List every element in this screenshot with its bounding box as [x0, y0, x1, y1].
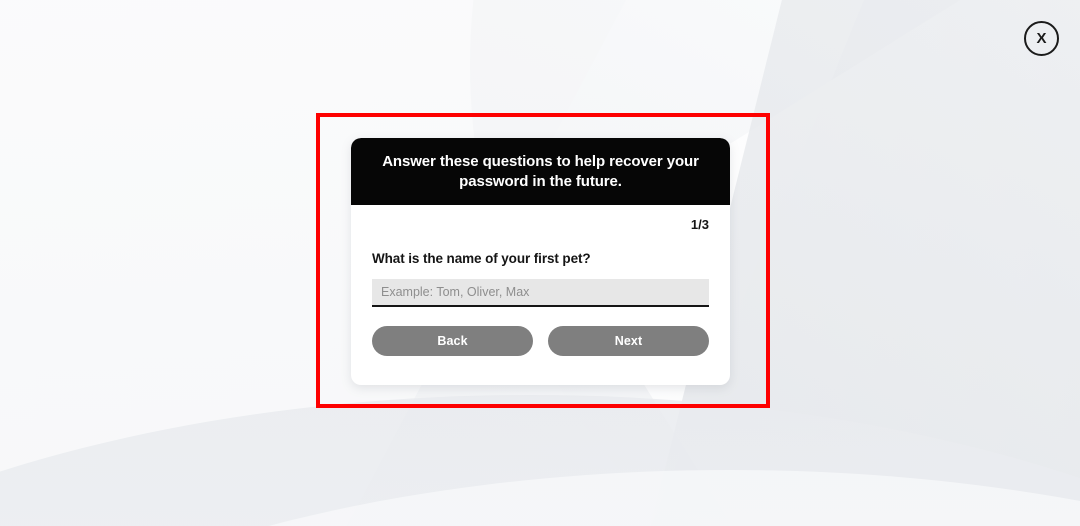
background-bottom-curve-2: [0, 470, 1080, 526]
back-button[interactable]: Back: [372, 326, 533, 356]
security-questions-dialog: Answer these questions to help recover y…: [351, 138, 730, 385]
answer-input[interactable]: [372, 279, 709, 307]
step-counter: 1/3: [372, 217, 709, 232]
dialog-button-row: Back Next: [372, 326, 709, 356]
close-button[interactable]: X: [1024, 21, 1059, 56]
dialog-header: Answer these questions to help recover y…: [351, 138, 730, 205]
next-button[interactable]: Next: [548, 326, 709, 356]
question-label: What is the name of your first pet?: [372, 251, 709, 266]
dialog-body: 1/3 What is the name of your first pet? …: [351, 205, 730, 356]
close-icon: X: [1036, 31, 1046, 46]
app-screen: X Answer these questions to help recover…: [0, 0, 1080, 526]
dialog-title: Answer these questions to help recover y…: [369, 152, 712, 191]
background-bottom-curve-1: [0, 395, 1080, 526]
